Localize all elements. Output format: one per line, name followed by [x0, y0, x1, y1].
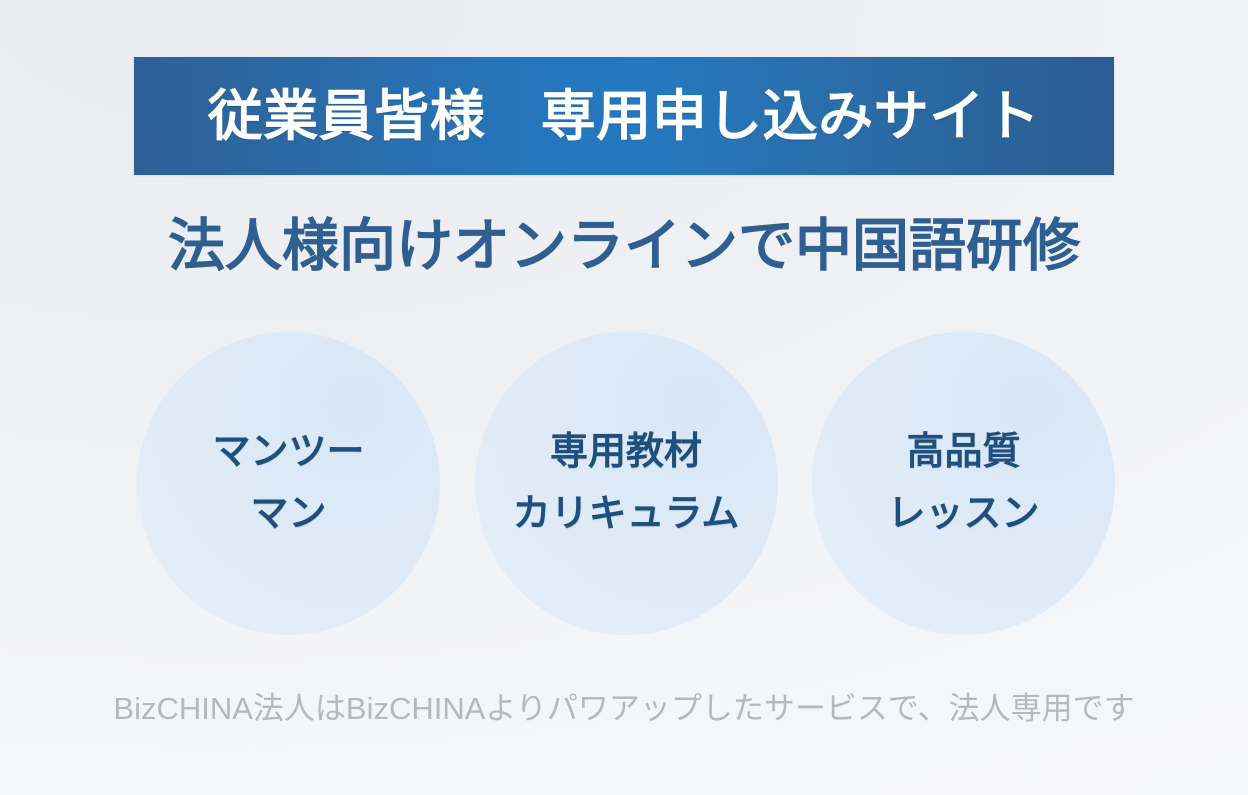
footer-block: BizCHINA法人はBizCHINAよりパワアップしたサービスで、法人専用です: [0, 690, 1248, 729]
site-banner: 従業員皆様 専用申し込みサイト: [134, 57, 1114, 175]
feature-circle-one-to-one: マンツー マン: [137, 332, 440, 635]
feature-circle-materials: 専用教材 カリキュラム: [475, 332, 778, 635]
page-title: 法人様向けオンラインで中国語研修: [0, 216, 1248, 278]
banner-title: 従業員皆様 専用申し込みサイト: [208, 89, 1041, 144]
feature-circle-quality: 高品質 レッスン: [812, 332, 1115, 635]
feature-label-line1: 高品質: [906, 422, 1020, 484]
headline-block: 法人様向けオンラインで中国語研修: [0, 216, 1248, 278]
feature-label-line1: 専用教材: [550, 422, 702, 484]
feature-label-line2: レッスン: [887, 484, 1039, 546]
footer-note: BizCHINA法人はBizCHINAよりパワアップしたサービスで、法人専用です: [0, 690, 1248, 729]
feature-label-line2: カリキュラム: [513, 484, 740, 546]
feature-label-line2: マン: [250, 484, 326, 546]
feature-label-line1: マンツー: [212, 422, 364, 484]
feature-circle-group: マンツー マン 専用教材 カリキュラム 高品質 レッスン: [137, 332, 1115, 635]
promo-page: 従業員皆様 専用申し込みサイト 法人様向けオンラインで中国語研修 マンツー マン…: [0, 0, 1248, 795]
